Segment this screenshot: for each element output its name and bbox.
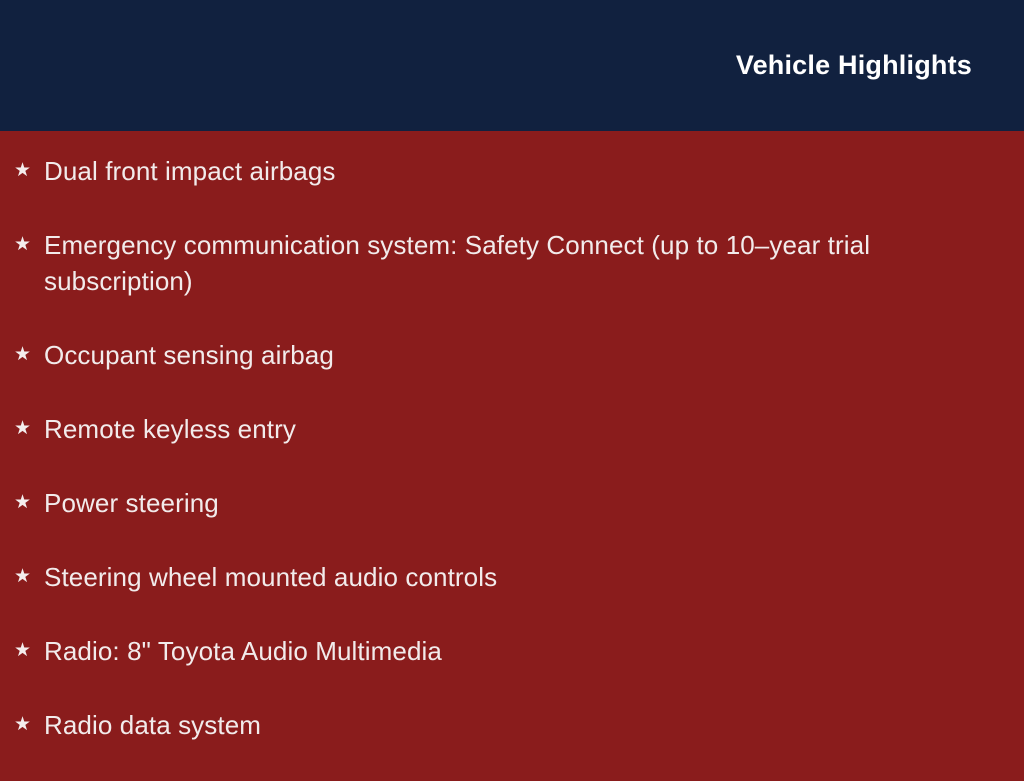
list-item-label: Power steering <box>44 485 959 521</box>
list-item: ★ Radio data system <box>13 707 984 743</box>
list-item: ★ Remote keyless entry <box>13 411 984 447</box>
list-item-label: Occupant sensing airbag <box>44 337 959 373</box>
list-item-label: Steering wheel mounted audio controls <box>44 559 959 595</box>
list-item: ★ Radio: 8" Toyota Audio Multimedia <box>13 633 984 669</box>
star-icon: ★ <box>13 153 44 189</box>
star-icon: ★ <box>13 559 44 595</box>
star-icon: ★ <box>13 227 44 263</box>
vehicle-highlights-list: ★ Dual front impact airbags ★ Emergency … <box>13 153 984 743</box>
list-item-label: Radio data system <box>44 707 959 743</box>
star-icon: ★ <box>13 633 44 669</box>
list-item-label: Dual front impact airbags <box>44 153 959 189</box>
list-item-label: Radio: 8" Toyota Audio Multimedia <box>44 633 959 669</box>
star-icon: ★ <box>13 707 44 743</box>
list-item: ★ Power steering <box>13 485 984 521</box>
star-icon: ★ <box>13 337 44 373</box>
list-item-label: Remote keyless entry <box>44 411 959 447</box>
list-item: ★ Occupant sensing airbag <box>13 337 984 373</box>
list-item: ★ Emergency communication system: Safety… <box>13 227 984 299</box>
star-icon: ★ <box>13 411 44 447</box>
list-item-label: Emergency communication system: Safety C… <box>44 227 959 299</box>
page-title: Vehicle Highlights <box>736 49 972 81</box>
slide: Vehicle Highlights ★ Dual front impact a… <box>0 0 1024 768</box>
slide-header: Vehicle Highlights <box>0 0 1024 131</box>
star-icon: ★ <box>13 485 44 521</box>
list-item: ★ Dual front impact airbags <box>13 153 984 189</box>
list-item: ★ Steering wheel mounted audio controls <box>13 559 984 595</box>
slide-body: ★ Dual front impact airbags ★ Emergency … <box>0 131 1024 781</box>
